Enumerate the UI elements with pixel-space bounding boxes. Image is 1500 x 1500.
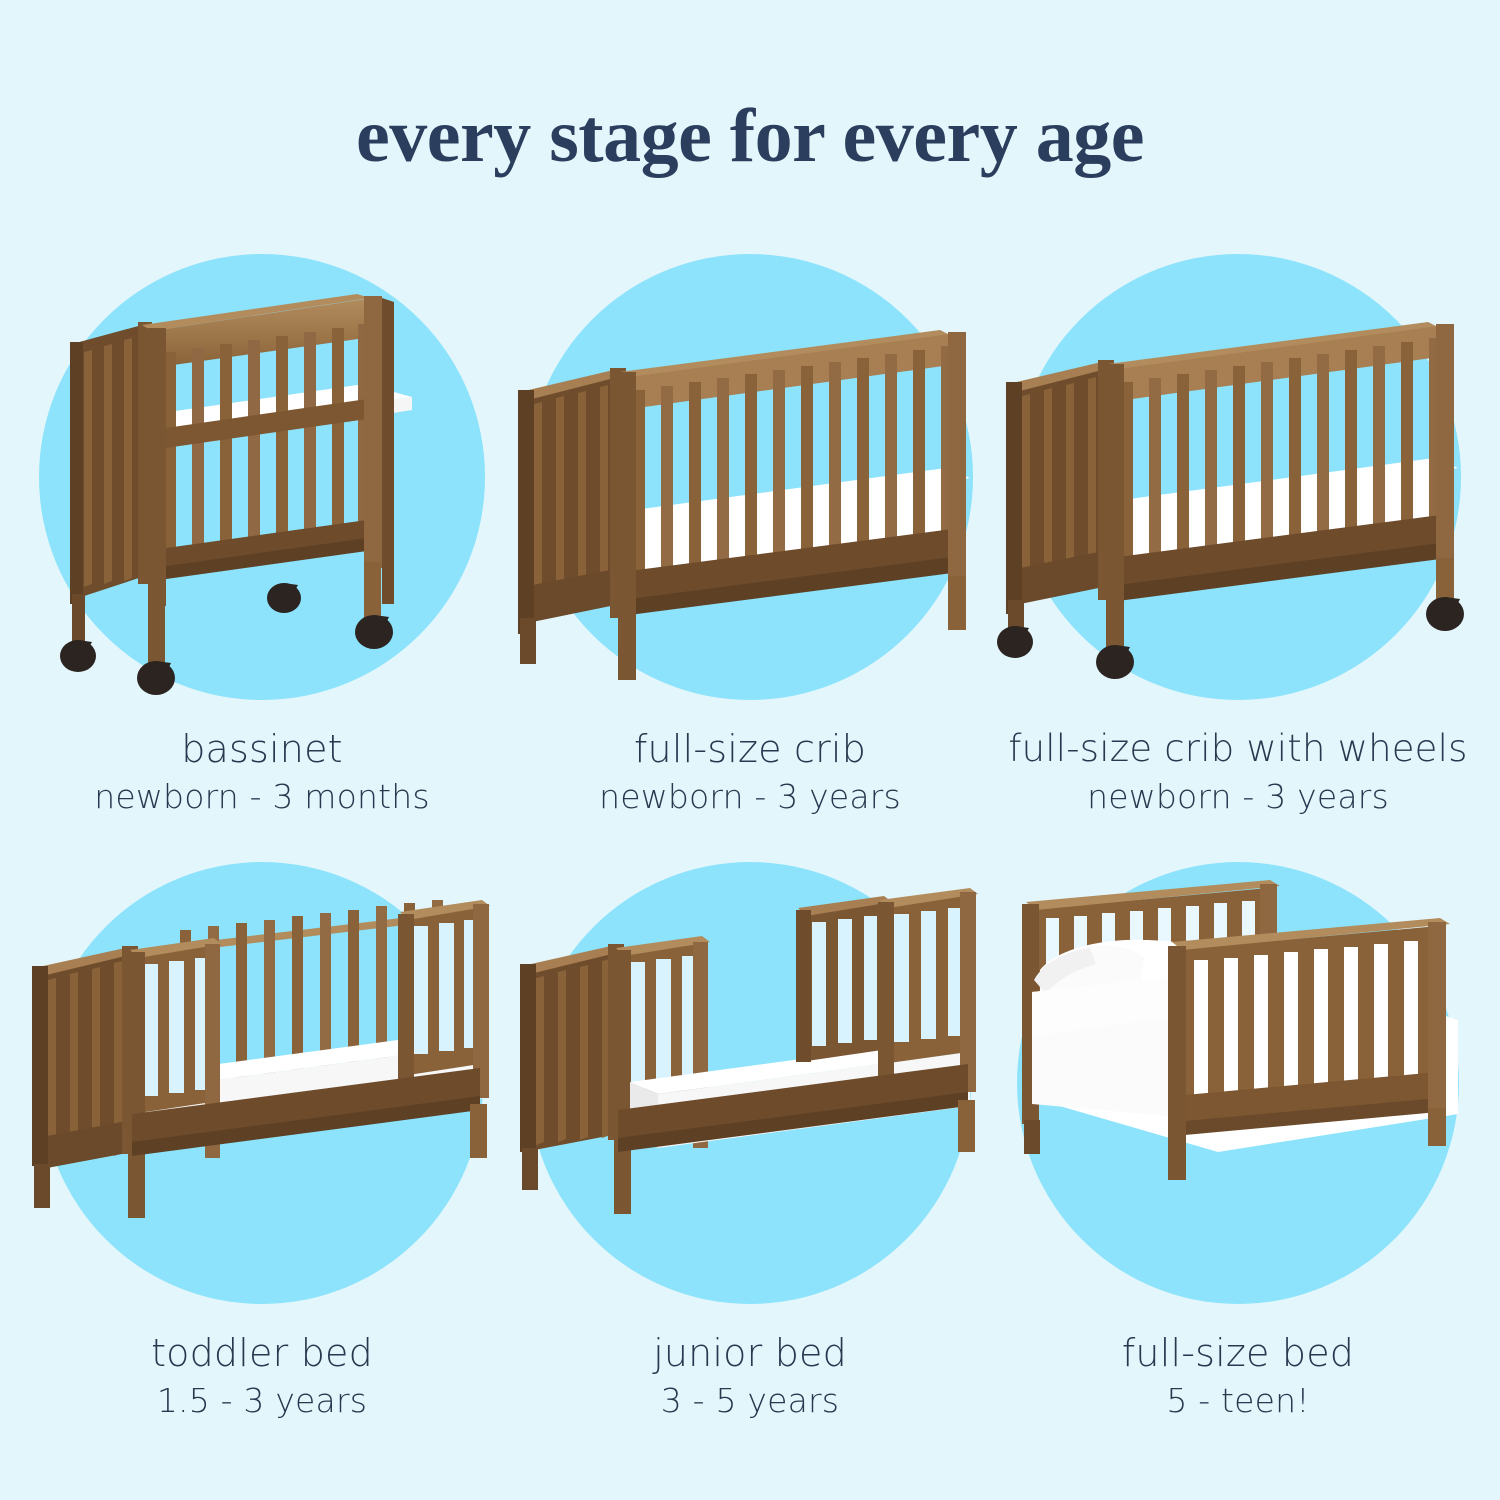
page-title: every stage for every age [0, 98, 1500, 174]
stage-name: junior bed [480, 1334, 1020, 1374]
junior-bed-illustration [500, 852, 1000, 1322]
full-size-bed-illustration [988, 852, 1488, 1322]
stage-age: 1.5 - 3 years [0, 1384, 532, 1419]
infographic-page: every stage for every age [0, 0, 1500, 1500]
full-size-crib-illustration [500, 232, 1000, 702]
stage-card-full-size-crib-with-wheels: full-size crib with wheels newborn - 3 y… [988, 232, 1488, 852]
stage-card-toddler-bed: toddler bed 1.5 - 3 years [12, 852, 512, 1500]
stage-card-full-size-crib: full-size crib newborn - 3 years [500, 232, 1000, 852]
stage-age: newborn - 3 years [968, 780, 1500, 815]
stage-name: full-size bed [968, 1334, 1500, 1374]
full-size-crib-with-wheels-illustration [988, 232, 1488, 702]
stage-card-full-size-bed: full-size bed 5 - teen! [988, 852, 1488, 1500]
stage-age: 5 - teen! [968, 1384, 1500, 1419]
stage-card-bassinet: bassinet newborn - 3 months [12, 232, 512, 852]
stage-age: newborn - 3 years [480, 780, 1020, 815]
stage-name: full-size crib [480, 730, 1020, 770]
stage-age: newborn - 3 months [0, 780, 532, 815]
bassinet-illustration [12, 232, 512, 702]
toddler-bed-illustration [12, 852, 512, 1322]
stage-grid: bassinet newborn - 3 months [0, 232, 1500, 1500]
stage-name: full-size crib with wheels [968, 730, 1500, 769]
stage-name: bassinet [0, 730, 532, 770]
stage-name: toddler bed [0, 1334, 532, 1374]
stage-age: 3 - 5 years [480, 1384, 1020, 1419]
stage-card-junior-bed: junior bed 3 - 5 years [500, 852, 1000, 1500]
